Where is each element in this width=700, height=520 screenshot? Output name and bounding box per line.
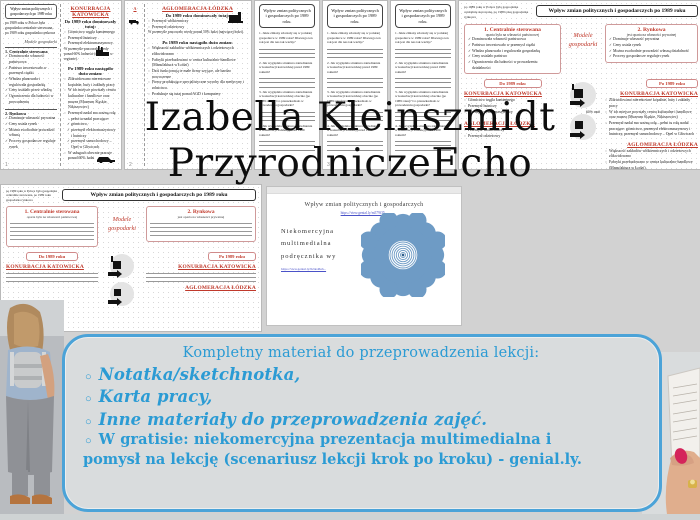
lodz-note-2: W przemyśle pracowało wtedy ponad 50% lu… xyxy=(148,30,247,35)
list-item-label: Karta pracy, xyxy=(99,386,213,407)
katowice-after-item: Zlikwidowano nierentowne kopalnie, huty … xyxy=(605,98,698,109)
worksheet-question: 3. Jak wyglądała struktura zatrudnienia … xyxy=(395,90,451,108)
blank-region-katowice-after: KONURBACJA KATOWICKA xyxy=(146,264,256,270)
bottom-band xyxy=(0,514,700,520)
lodz-after-item: Fabryki przebudowano w centra kulturalno… xyxy=(605,160,698,169)
worksheet-header-c: Wpływ zmian politycznych i gospodarczych… xyxy=(395,4,451,28)
panel-list: ○ Notatka/sketchnotka, ○ Karta pracy, ○ … xyxy=(79,364,643,450)
panel-tail-text: pomysł na lekcję (scenariusz lekcji krok… xyxy=(83,451,643,469)
worksheet-question: 3. Jak wyglądała struktura zatrudnienia … xyxy=(259,90,315,108)
thumbnail-page-1[interactable]: Wpływ zmian politycznych i gospodarczych… xyxy=(0,0,122,170)
bullet-icon: ○ xyxy=(85,417,92,428)
page-number-3: 3 xyxy=(327,162,330,168)
factory-arrow-icon: 60% osób xyxy=(566,79,600,149)
lodz-before-item: Przemysł odzieżowy xyxy=(464,134,561,140)
page-number-1: 1 xyxy=(5,162,8,168)
worksheet-question: 1. Jakie zmiany zdarzały się w polskiej … xyxy=(327,31,383,44)
thumbnail-row-top: Wpływ zmian politycznych i gospodarczych… xyxy=(0,0,700,170)
blank-region-katowice: KONURBACJA KATOWICKA xyxy=(6,264,98,270)
period-after-ov: Po 1989 roku xyxy=(646,79,698,88)
truck-icon xyxy=(129,17,140,25)
period-before-ov: Do 1989 roku xyxy=(484,79,542,88)
car-icon xyxy=(95,154,117,163)
model1-title-1: 1. Centralnie sterowana xyxy=(5,47,57,54)
thumbnail-sketchnote-overview[interactable]: po 1989 roku w Polsce była gospodarka ce… xyxy=(458,0,700,170)
worksheet-question: 1. Jakie zmiany zdarzały się w polskiej … xyxy=(395,31,451,44)
worksheet-question: 2. Jak wyglądała struktura zatrudnienia … xyxy=(259,61,315,74)
thumbnail-worksheet-b[interactable]: Wpływ zmian politycznych i gospodarczych… xyxy=(322,0,388,170)
list-item-label: W gratisie: niekomercyjna prezentacja mu… xyxy=(99,431,552,450)
list-item: ○ W gratisie: niekomercyjna prezentacja … xyxy=(79,431,643,450)
page-number-4: 4 xyxy=(463,162,466,168)
region-lodz-ov: AGLOMERACJA ŁÓDZKA xyxy=(464,121,561,127)
presentation-slide-thumbnail[interactable]: Wpływ zmian politycznych i gospodarczych… xyxy=(266,186,462,326)
blank-period-after: Po 1989 roku xyxy=(208,252,256,261)
model2-title-1: 2. Rynkowa xyxy=(5,109,57,116)
thumbnail-worksheet-c[interactable]: Wpływ zmian politycznych i gospodarczych… xyxy=(390,0,456,170)
region-lodz-after-ov: AGLOMERACJA ŁÓDZKA xyxy=(605,142,698,148)
panel-title: Kompletny materiał do przeprowadzenia le… xyxy=(79,345,643,361)
overview-header: Wpływ zmian politycznych i gospodarczych… xyxy=(536,5,698,17)
worksheet-question: 3. Jak wyglądała struktura zatrudnienia … xyxy=(327,90,383,108)
blank-region-lodz-after: AGLOMERACJA ŁÓDZKA xyxy=(146,285,256,291)
worksheet-question: 2. Jak wyglądała struktura zatrudnienia … xyxy=(327,61,383,74)
lodz-after-item: Większość zakładów włókienniczych i odzi… xyxy=(605,149,698,160)
region-katowice-1: KONURBACJA KATOWICKA xyxy=(64,6,117,18)
screenshot-canvas: Wpływ zmian politycznych i gospodarczych… xyxy=(0,0,700,520)
worksheet-question: 4. Jak wyglądała struktura zatrudnienia … xyxy=(395,124,451,137)
model2-item: Procesy gospodarcze reguluje rynek xyxy=(609,54,694,60)
photo-student-with-backpack xyxy=(0,300,64,520)
worksheet-question: 1. Jakie zmiany zdarzały się w polskiej … xyxy=(259,31,315,44)
factory-icon xyxy=(95,45,115,57)
region-katowice-ov: KONURBACJA KATOWICKA xyxy=(464,91,561,97)
katowice-before-item: Przemysł elektromaszynowy xyxy=(464,110,561,116)
svg-text:60% osób: 60% osób xyxy=(586,110,600,114)
after-heading-2: Po 1989 roku nastąpiło dużo zmian: xyxy=(148,40,247,45)
blank-models-label: Modele gospodarki xyxy=(103,206,141,232)
katowice-after-item: Przemysł nadal ma ważną rolę – pełni tu … xyxy=(605,121,698,138)
blank-model1-subtitle: oparta była na własności państwowej xyxy=(10,215,94,219)
page-number-2: 2 xyxy=(129,162,132,168)
thumbnail-worksheet-a[interactable]: Wpływ zmian politycznych i gospodarczych… xyxy=(254,0,320,170)
thumbnail-page-2[interactable]: A AGLOMERACJA ŁÓDZKA Do 1989 roku domino… xyxy=(124,0,252,170)
bullet-icon: ○ xyxy=(85,436,92,447)
worksheet-question: 4. Jak wyglądała struktura zatrudnienia … xyxy=(259,124,315,137)
list-item: ○ Notatka/sketchnotka, xyxy=(79,364,643,385)
region-katowice-after-ov: KONURBACJA KATOWICKA xyxy=(605,91,698,97)
worksheet-question: 2. Jak wyglądała struktura zatrudnienia … xyxy=(395,61,451,74)
flower-graphic xyxy=(361,213,445,297)
bullet-icon: ○ xyxy=(85,394,92,405)
list-item-label: Inne materiały do przeprowadzenia zajęć. xyxy=(99,409,488,430)
factory-arrow-icon xyxy=(103,252,141,308)
list-item: ○ Karta pracy, xyxy=(79,386,643,407)
model1-item: Ograniczenia dla ludności w prowadzeniu … xyxy=(468,60,557,71)
models-label-ov: Modele gospodarki xyxy=(566,24,600,49)
worksheet-header-b: Wpływ zmian politycznych i gospodarczych… xyxy=(327,4,383,28)
sn-header-left: Wpływ zmian politycznych i gospodarczych… xyxy=(10,7,52,16)
katowice-after-item: W ich miejsce powstały centra kulturalne… xyxy=(605,110,698,121)
sewing-machine-icon xyxy=(227,11,245,25)
blank-model2-subtitle: jest oparta na własności prywatnej xyxy=(150,215,252,219)
info-panel: Kompletny materiał do przeprowadzenia le… xyxy=(62,334,662,512)
blank-period-before: Do 1989 roku xyxy=(26,252,78,261)
list-item: ○ Inne materiały do przeprowadzenia zaję… xyxy=(79,409,643,430)
bullet-icon: ○ xyxy=(85,372,92,383)
slide-title: Wpływ zmian politycznych i gospodarczych xyxy=(267,202,461,208)
slide-topbar xyxy=(267,187,461,194)
after-heading-1: Po 1989 roku nastąpiło dużo zmian: xyxy=(64,66,117,76)
list-item-label: Notatka/sketchnotka, xyxy=(99,364,301,385)
models-label-1: Modele gospodarki xyxy=(5,39,57,44)
worksheet-header-a: Wpływ zmian politycznych i gospodarczych… xyxy=(259,4,315,28)
worksheet-question: 4. Jak wyglądała struktura zatrudnienia … xyxy=(327,124,383,137)
blank-header: Wpływ zmian politycznych i gospodarczych… xyxy=(62,189,256,201)
before-heading-1: Do 1989 roku dominowały tutaj: xyxy=(64,19,117,29)
